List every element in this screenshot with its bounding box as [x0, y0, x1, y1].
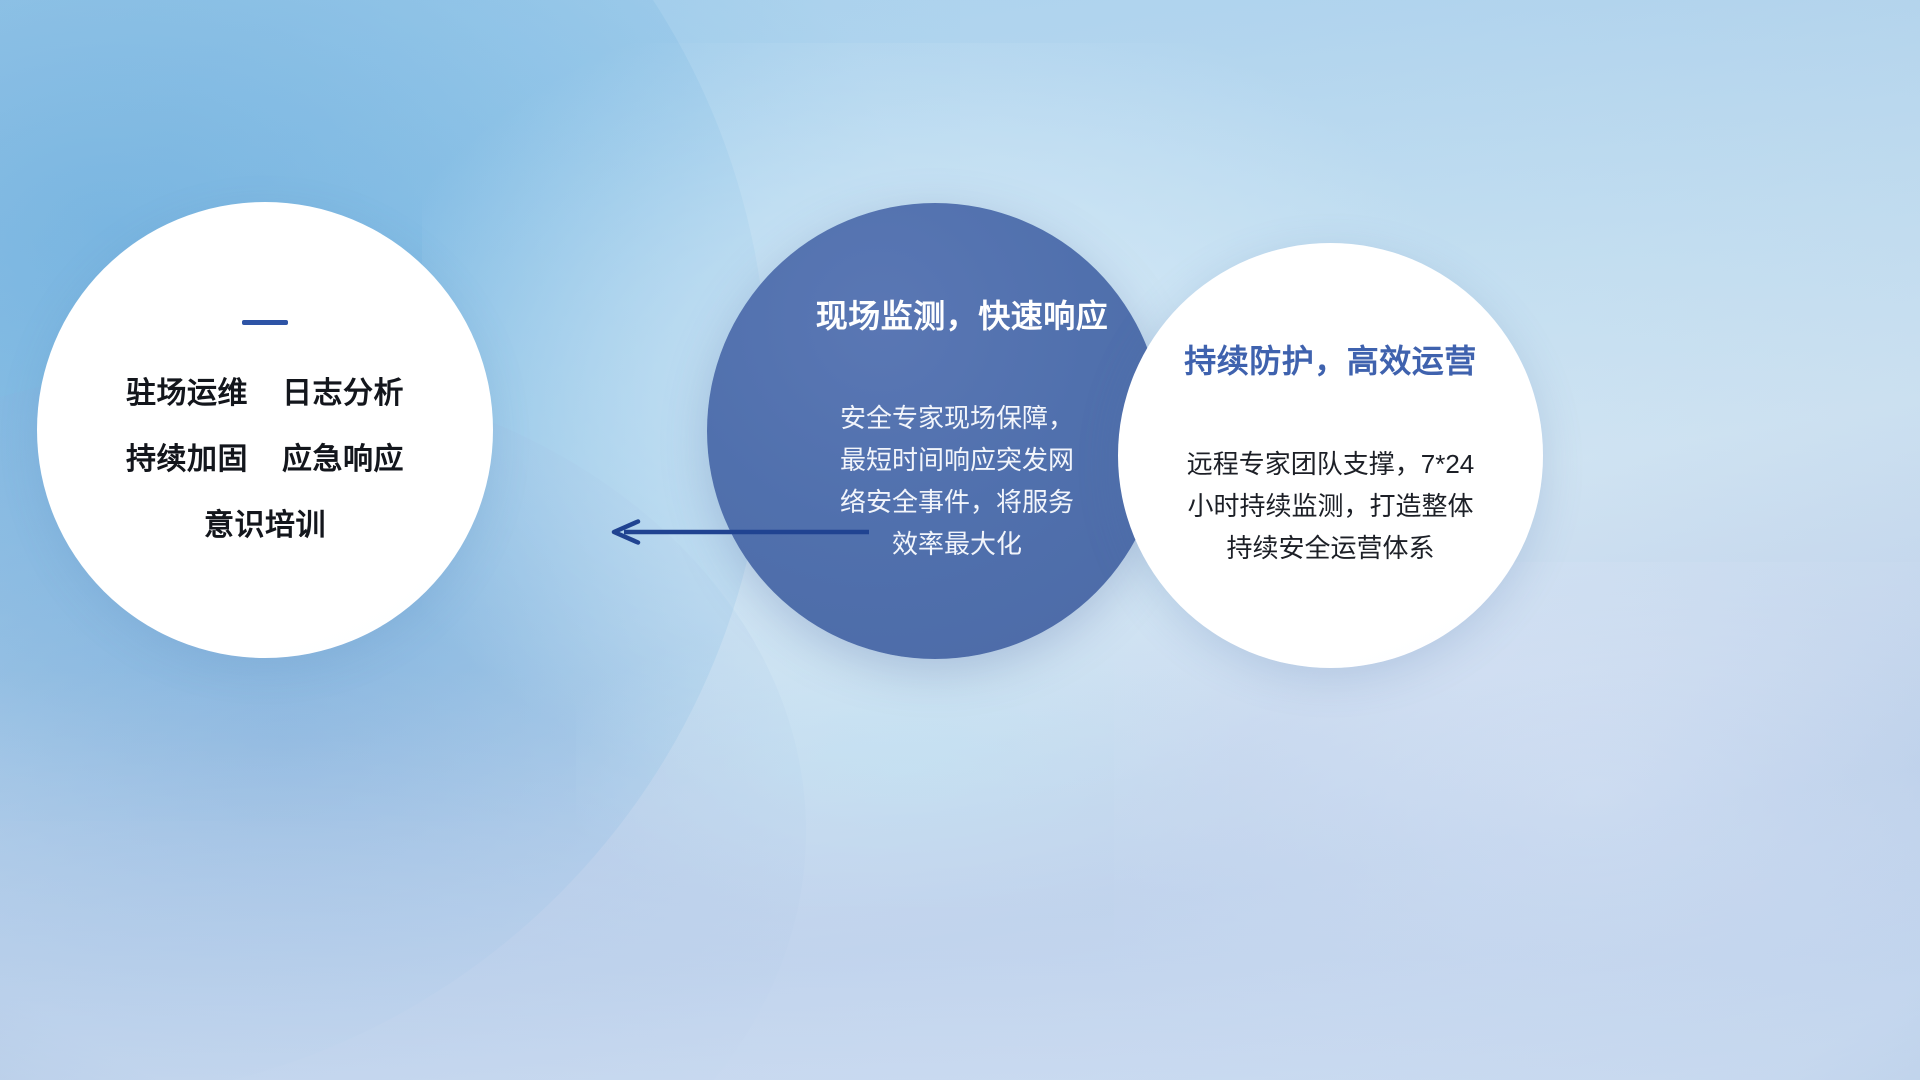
keyword-item: 日志分析	[282, 379, 404, 409]
flow-arrow-left	[608, 518, 870, 546]
left-circle-content: 驻场运维 日志分析 持续加固 应急响应 意识培训	[37, 202, 493, 658]
right-circle-content: 持续防护，高效运营 远程专家团队支撑，7*24 小时持续监测，打造整体 持续安全…	[1118, 243, 1543, 668]
center-circle-title: 现场监测，快速响应	[816, 297, 1109, 335]
center-body-line: 安全专家现场保障，	[840, 397, 1074, 439]
right-body-line: 远程专家团队支撑，7*24	[1187, 443, 1475, 485]
left-circle-service-capabilities: 驻场运维 日志分析 持续加固 应急响应 意识培训	[37, 202, 493, 658]
center-body-line: 效率最大化	[840, 523, 1074, 565]
keyword-item: 持续加固	[126, 445, 248, 475]
center-circle-content: 现场监测，快速响应 安全专家现场保障， 最短时间响应突发网 络安全事件，将服务 …	[707, 203, 1163, 659]
keyword-item: 应急响应	[282, 445, 404, 475]
keyword-item: 驻场运维	[126, 379, 248, 409]
center-circle-body: 安全专家现场保障， 最短时间响应突发网 络安全事件，将服务 效率最大化	[840, 397, 1074, 565]
center-body-line: 络安全事件，将服务	[840, 481, 1074, 523]
keyword-row: 意识培训	[204, 511, 326, 541]
keyword-row: 持续加固 应急响应	[126, 445, 404, 475]
accent-rule-divider	[242, 320, 288, 325]
keyword-row: 驻场运维 日志分析	[126, 379, 404, 409]
right-circle-title: 持续防护，高效运营	[1184, 342, 1477, 380]
center-body-line: 最短时间响应突发网	[840, 439, 1074, 481]
right-body-line: 小时持续监测，打造整体	[1187, 485, 1475, 527]
keyword-item: 意识培训	[204, 511, 326, 541]
arrow-left-icon	[608, 518, 870, 546]
right-circle-continuous-protection: 持续防护，高效运营 远程专家团队支撑，7*24 小时持续监测，打造整体 持续安全…	[1118, 243, 1543, 668]
right-circle-body: 远程专家团队支撑，7*24 小时持续监测，打造整体 持续安全运营体系	[1187, 443, 1475, 569]
center-circle-live-monitoring: 现场监测，快速响应 安全专家现场保障， 最短时间响应突发网 络安全事件，将服务 …	[707, 203, 1163, 659]
right-body-line: 持续安全运营体系	[1187, 527, 1475, 569]
